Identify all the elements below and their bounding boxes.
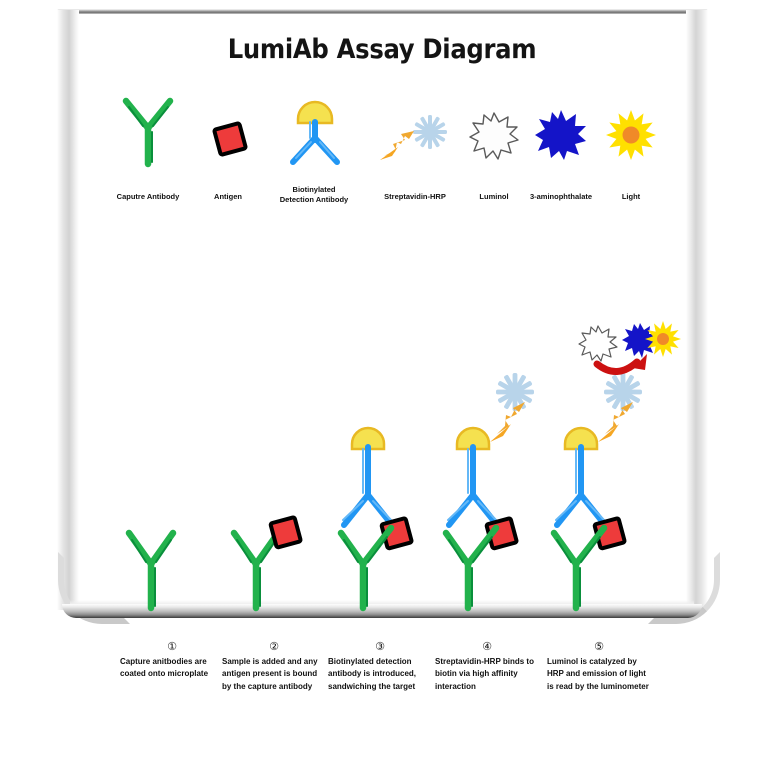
step4-hrp-burst-icon: [496, 373, 534, 411]
step-number-2: ②: [222, 640, 326, 653]
page-title: LumiAb Assay Diagram: [0, 34, 764, 65]
legend-label-light: Light: [602, 192, 660, 202]
step2-capture-antibody-with-antigen: [227, 528, 307, 610]
step-text-5: Luminol is catalyzed by HRP and emission…: [547, 656, 651, 693]
step5-hrp-burst-icon: [604, 373, 642, 411]
step-caption-4: ④ Streptavidin-HRP binds to biotin via h…: [435, 640, 539, 693]
legend-label-detection-antibody-line1: Biotinylated: [262, 185, 366, 195]
step5-sandwich-with-luminol-reaction: [543, 370, 688, 610]
legend-green-antibody-icon: [117, 96, 179, 168]
step4-sandwich-with-streptavidin: [435, 370, 555, 610]
step-text-1: Capture anitbodies are coated onto micro…: [120, 656, 224, 681]
step-number-1: ①: [120, 640, 224, 653]
diagram-canvas: LumiAb Assay Diagram: [0, 0, 764, 764]
legend-label-detection-antibody-line2: Detection Antibody: [262, 195, 366, 205]
step-caption-2: ② Sample is added and any antigen presen…: [222, 640, 326, 693]
legend-label-antigen: Antigen: [186, 192, 270, 202]
step5-luminol-icon: [579, 326, 617, 361]
step-number-5: ⑤: [547, 640, 651, 653]
step-caption-3: ③ Biotinylated detection antibody is int…: [328, 640, 432, 693]
step5-reaction-arrow-icon: [597, 354, 647, 372]
vessel-rim: [57, 9, 708, 14]
step-text-3: Biotinylated detection antibody is intro…: [328, 656, 432, 693]
vessel-wall-right: [686, 10, 708, 610]
step4-hrp-arrow-icon: [497, 402, 525, 434]
legend-light-icon: [604, 108, 658, 162]
legend-label-detection-antibody: Biotinylated Detection Antibody: [262, 185, 366, 205]
legend-antigen-icon: [208, 117, 252, 161]
step3-sandwich-complex: [330, 425, 420, 610]
legend-streptavidin-hrp-icon: [378, 112, 450, 168]
legend-luminol-icon: [468, 110, 520, 162]
step-number-4: ④: [435, 640, 539, 653]
step-caption-5: ⑤ Luminol is catalyzed by HRP and emissi…: [547, 640, 651, 693]
step5-hrp-arrow-icon: [605, 402, 633, 434]
step-text-2: Sample is added and any antigen present …: [222, 656, 326, 693]
vessel-wall-left: [57, 10, 79, 610]
step1-capture-antibody: [122, 528, 182, 610]
legend-label-streptavidin-hrp: Streptavidin-HRP: [366, 192, 464, 202]
step-caption-1: ① Capture anitbodies are coated onto mic…: [120, 640, 224, 681]
legend-label-capture-antibody: Caputre Antibody: [96, 192, 200, 202]
step-text-4: Streptavidin-HRP binds to biotin via hig…: [435, 656, 539, 693]
step2-antigen-icon: [270, 517, 301, 548]
step5-reaction-cluster: [575, 318, 685, 376]
legend-blue-antibody-icon: [283, 96, 347, 168]
step-number-3: ③: [328, 640, 432, 653]
legend-label-aminophthalate: 3-aminophthalate: [511, 192, 611, 202]
legend-aminophthalate-icon: [534, 108, 588, 162]
